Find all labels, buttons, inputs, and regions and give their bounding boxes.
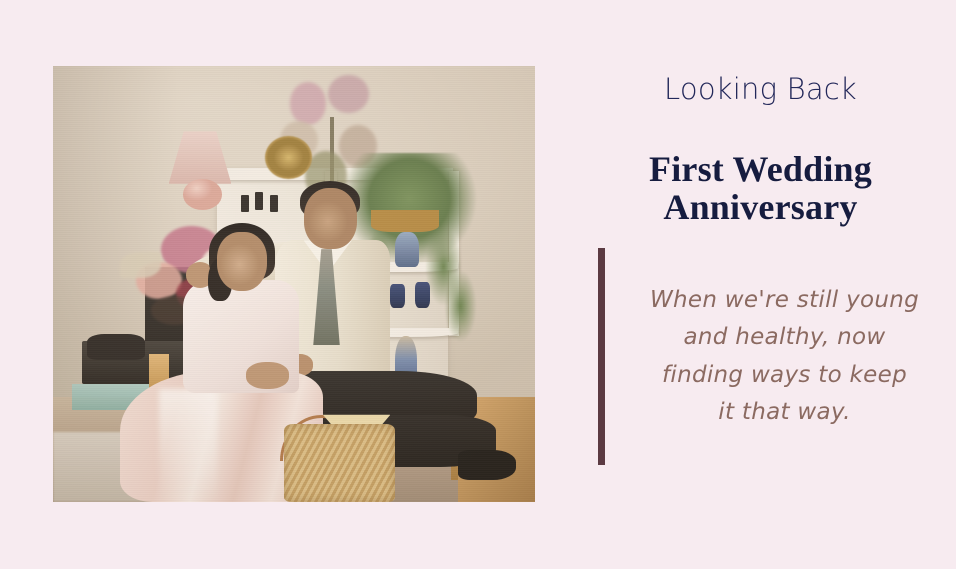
plant-vine <box>439 258 482 354</box>
text-column: Looking Back First Wedding Anniversary W… <box>565 0 956 569</box>
blue-white-vase <box>415 282 430 308</box>
slide-canvas: Looking Back First Wedding Anniversary W… <box>0 0 956 569</box>
quote-accent-bar <box>598 248 605 465</box>
anniversary-photo <box>53 66 535 502</box>
ship-wheel-ornament <box>265 136 312 179</box>
dark-bottle <box>270 195 278 212</box>
porcelain-figurine-top <box>395 232 419 267</box>
photo-scene <box>53 66 535 502</box>
table-lamp-base <box>183 179 222 210</box>
wicker-basket <box>284 424 395 502</box>
man-shoe <box>458 450 516 481</box>
dark-bottle <box>241 195 249 212</box>
skirt-highlight <box>159 389 217 502</box>
woman-hands <box>246 362 289 388</box>
quote-text: When we're still young and healthy, now … <box>605 282 956 431</box>
eyebrow-label: Looking Back <box>565 72 956 106</box>
dark-bottle <box>255 192 263 209</box>
quote-block: When we're still young and healthy, now … <box>598 248 956 465</box>
branch-blossom <box>328 75 368 113</box>
flower-bloom <box>120 252 160 278</box>
branch-blossom <box>290 82 326 124</box>
man-face <box>304 188 357 249</box>
page-title: First Wedding Anniversary <box>565 150 956 226</box>
blue-white-vase <box>390 284 404 308</box>
woman-face <box>217 232 268 291</box>
